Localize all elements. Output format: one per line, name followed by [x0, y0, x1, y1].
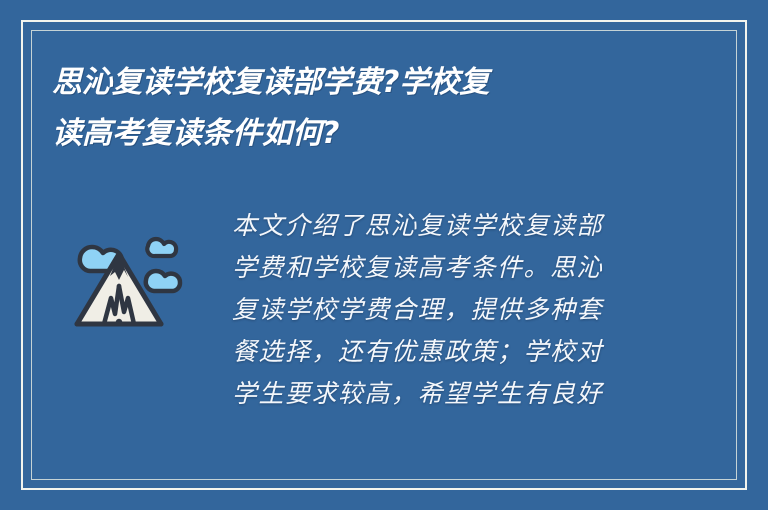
- summary-line-3: 复读学校学费合理，提供多种套: [232, 289, 652, 331]
- title-line-2: 读高考复读条件如何?: [52, 108, 692, 159]
- poster-card: 思沁复读学校复读部学费?学校复 读高考复读条件如何?: [0, 0, 768, 510]
- article-summary: 本文介绍了思沁复读学校复读部 学费和学校复读高考条件。思沁 复读学校学费合理，提…: [232, 205, 652, 415]
- cloud-medium-right-icon: [146, 271, 180, 291]
- summary-line-2: 学费和学校复读高考条件。思沁: [232, 247, 652, 289]
- mountain-with-clouds-icon: [62, 220, 202, 340]
- mountain-illustration-svg: [62, 220, 202, 340]
- title-line-1: 思沁复读学校复读部学费?学校复: [52, 57, 692, 108]
- summary-line-5: 学生要求较高，希望学生有良好: [232, 373, 652, 415]
- cloud-small-top-icon: [147, 239, 176, 256]
- content-area: 本文介绍了思沁复读学校复读部 学费和学校复读高考条件。思沁 复读学校学费合理，提…: [52, 205, 716, 466]
- summary-line-1: 本文介绍了思沁复读学校复读部: [232, 205, 652, 247]
- page-title: 思沁复读学校复读部学费?学校复 读高考复读条件如何?: [52, 57, 692, 159]
- summary-line-4: 餐选择，还有优惠政策；学校对: [232, 331, 652, 373]
